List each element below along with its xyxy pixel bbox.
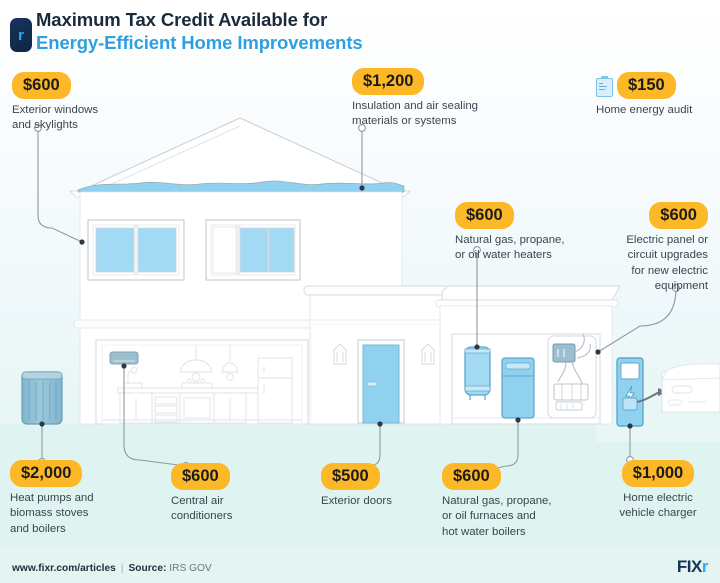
callout-exterior-doors: $500 Exterior doors [321,463,392,509]
amount-badge: $500 [321,463,380,490]
footer-separator: | [121,563,124,574]
callout-insulation: $1,200 Insulation and air sealing materi… [352,68,478,130]
fixr-wordmark: FIXr [677,558,708,575]
ev-charger [617,358,668,426]
page-title-line2: Energy-Efficient Home Improvements [36,32,363,54]
water-heater [465,347,490,400]
amount-badge: $600 [649,202,708,229]
footer-source-label: Source: [128,563,166,574]
upper-window-left [88,220,184,280]
amount-badge: $600 [442,463,501,490]
callout-home-energy-audit: $150 Home energy audit [596,72,708,118]
audit-badge-row: $150 [596,72,708,99]
outdoor-ac-unit [22,372,62,424]
amount-badge: $1,000 [622,460,694,487]
amount-badge: $600 [12,72,71,99]
callout-description: Insulation and air sealing materials or … [352,99,478,130]
footer-website[interactable]: www.fixr.com/articles [12,563,116,574]
callout-description: Exterior doors [321,494,392,509]
callout-description: Electric panel or circuit upgrades for n… [593,233,708,295]
callout-water-heaters: $600 Natural gas, propane, or oil water … [455,202,565,264]
callout-description: Natural gas, propane, or oil furnaces an… [442,494,552,540]
callout-central-air: $600 Central air conditioners [171,463,232,525]
amount-badge: $1,200 [352,68,424,95]
callout-description: Exterior windows and skylights [12,103,98,134]
infographic-canvas: r Maximum Tax Credit Available for Energ… [0,0,720,583]
callout-description: Central air conditioners [171,494,232,525]
amount-badge: $600 [171,463,230,490]
callout-description: Heat pumps and biomass stoves and boiler… [10,491,94,537]
callout-description: Natural gas, propane, or oil water heate… [455,233,565,264]
footer-source-value: IRS GOV [169,563,211,574]
front-door [358,340,404,423]
clipboard-icon [596,76,612,95]
amount-badge: $600 [455,202,514,229]
callout-ev-charger: $1,000 Home electric vehicle charger [604,460,712,522]
porch-cornice [304,286,448,295]
callout-exterior-windows: $600 Exterior windows and skylights [12,72,98,134]
callout-furnaces: $600 Natural gas, propane, or oil furnac… [442,463,552,540]
car [662,364,720,412]
amount-badge: $150 [617,72,676,99]
header: r Maximum Tax Credit Available for Energ… [0,0,720,62]
footer-attribution: www.fixr.com/articles|Source: IRS GOV [12,563,212,574]
mini-split-unit [110,352,138,364]
callout-description: Home energy audit [596,103,708,118]
driveway [596,424,720,442]
electrical-panel [548,334,596,418]
amount-badge: $2,000 [10,460,82,487]
furnace [502,358,534,418]
fixr-r: r [702,557,708,576]
page-title-line1: Maximum Tax Credit Available for [36,9,327,31]
upper-window-right [206,220,300,280]
logo-letter: r [10,28,32,43]
fixr-logo-mark: r [10,18,32,52]
fixr-text: FIX [677,557,702,576]
callout-description: Home electric vehicle charger [604,491,712,522]
callout-electric-panel: $600 Electric panel or circuit upgrades … [593,202,708,295]
callout-heat-pumps: $2,000 Heat pumps and biomass stoves and… [10,460,94,537]
